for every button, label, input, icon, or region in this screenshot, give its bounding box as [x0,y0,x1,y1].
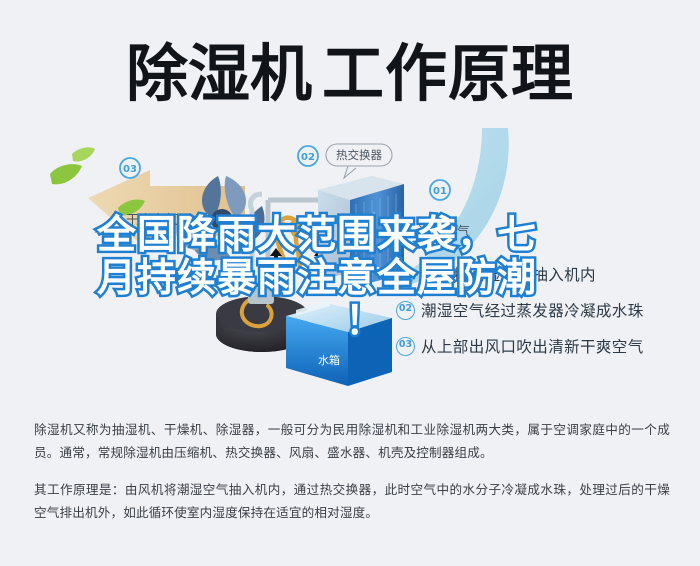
svg-text:01: 01 [433,186,447,197]
legend-badge-02: 02 [396,301,415,320]
svg-text:热交换器: 热交换器 [336,148,382,162]
title-part-2: 工作原理 [322,37,574,110]
legend-item-03: 03 从上部出风口吹出清新干爽空气 [396,328,696,364]
water-tank-label: 水箱 [318,353,340,367]
water-tank-shape: 水箱 [286,300,392,386]
title-part-1: 除湿机 [126,37,312,110]
legend-item-02: 02 潮湿空气经过蒸发器冷凝成水珠 [396,292,696,328]
svg-text:潮湿空气: 潮湿空气 [418,224,470,240]
callout-02: 02 热交换器 [298,144,392,178]
legend-label-02: 潮湿空气经过蒸发器冷凝成水珠 [421,299,644,321]
page-title: 除湿机工作原理 [0,24,700,124]
paragraph-2: 其工作原理是：由风机将潮湿空气抽入机内，通过热交换器，此时空气中的水分子冷凝成水… [34,478,670,524]
svg-text:03: 03 [123,164,137,175]
legend-list: 01 风扇将潮湿空气抽入机内 02 潮湿空气经过蒸发器冷凝成水珠 03 从上部出… [396,256,696,364]
heat-exchanger-shape [318,176,404,288]
svg-text:02: 02 [301,152,315,163]
article-body: 除湿机又称为抽湿机、干燥机、除湿器，一般可分为民用除湿机和工业除湿机两大类，属于… [34,418,670,524]
legend-item-01: 01 风扇将潮湿空气抽入机内 [396,256,696,292]
legend-badge-01: 01 [396,265,415,284]
legend-label-01: 风扇将潮湿空气抽入机内 [421,263,596,285]
legend-badge-03: 03 [396,337,415,356]
svg-text:干爽空气: 干爽空气 [126,212,178,228]
page-root: 除湿机工作原理 [0,0,700,566]
paragraph-1: 除湿机又称为抽湿机、干燥机、除湿器，一般可分为民用除湿机和工业除湿机两大类，属于… [34,418,670,464]
legend-label-03: 从上部出风口吹出清新干爽空气 [421,335,644,357]
callout-01: 01 潮湿空气 [418,180,470,240]
